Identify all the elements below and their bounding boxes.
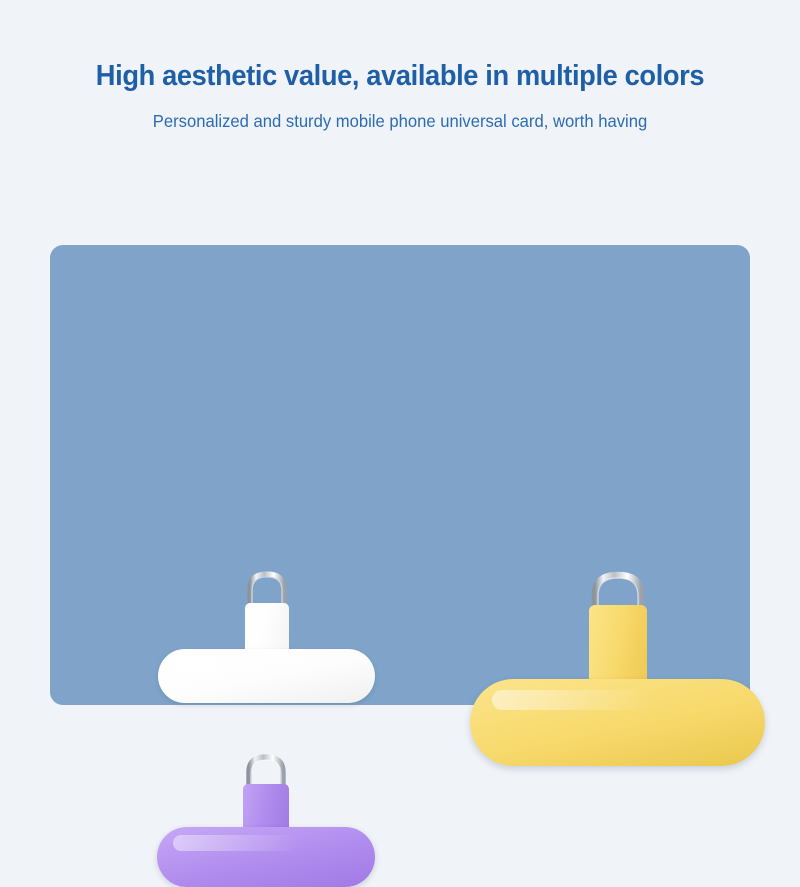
highlight-yellow bbox=[492, 690, 652, 710]
page-title: High aesthetic value, available in multi… bbox=[24, 0, 776, 93]
card-body-purple bbox=[157, 827, 375, 887]
header: High aesthetic value, available in multi… bbox=[0, 0, 800, 132]
card-body-yellow bbox=[470, 679, 765, 766]
page-subtitle: Personalized and sturdy mobile phone uni… bbox=[20, 93, 780, 132]
product-card-yellow bbox=[470, 567, 765, 766]
product-showcase-panel bbox=[50, 245, 750, 705]
card-body-white bbox=[158, 649, 375, 703]
product-card-white bbox=[158, 567, 375, 703]
highlight-purple bbox=[173, 835, 298, 851]
product-card-purple bbox=[157, 750, 375, 887]
highlight-white bbox=[172, 656, 292, 671]
